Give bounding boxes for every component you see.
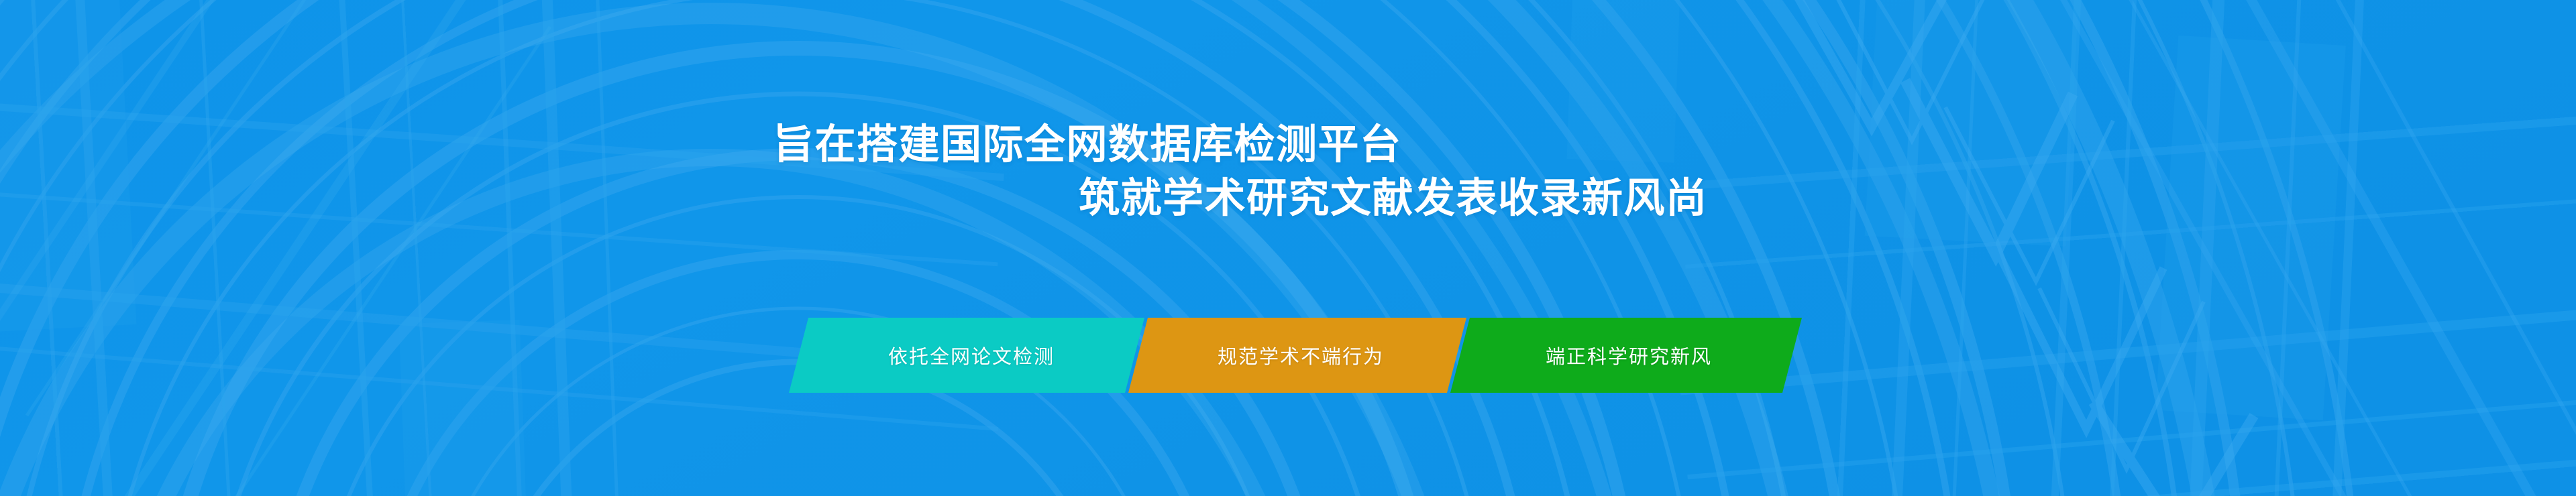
banner-background-graphic <box>0 0 2576 496</box>
feature-tag-label: 规范学术不端行为 <box>1218 341 1384 369</box>
headline-block: 旨在搭建国际全网数据库检测平台 筑就学术研究文献发表收录新风尚 <box>0 119 2576 223</box>
feature-tag-label: 端正科学研究新风 <box>1546 341 1712 369</box>
feature-tag-academic-misconduct[interactable]: 规范学术不端行为 <box>1128 318 1466 393</box>
feature-tag-research-ethics[interactable]: 端正科学研究新风 <box>1450 318 1802 393</box>
promo-banner: 旨在搭建国际全网数据库检测平台 筑就学术研究文献发表收录新风尚 依托全网论文检测… <box>0 0 2576 496</box>
feature-tag-paper-detection[interactable]: 依托全网论文检测 <box>789 318 1144 393</box>
headline-line-2: 筑就学术研究文献发表收录新风尚 <box>1079 173 2576 223</box>
feature-tag-bar: 依托全网论文检测 规范学术不端行为 端正科学研究新风 <box>789 318 1802 393</box>
feature-tag-label: 依托全网论文检测 <box>888 341 1055 369</box>
headline-line-1: 旨在搭建国际全网数据库检测平台 <box>773 119 2576 169</box>
background-pattern-svg <box>0 0 2576 496</box>
